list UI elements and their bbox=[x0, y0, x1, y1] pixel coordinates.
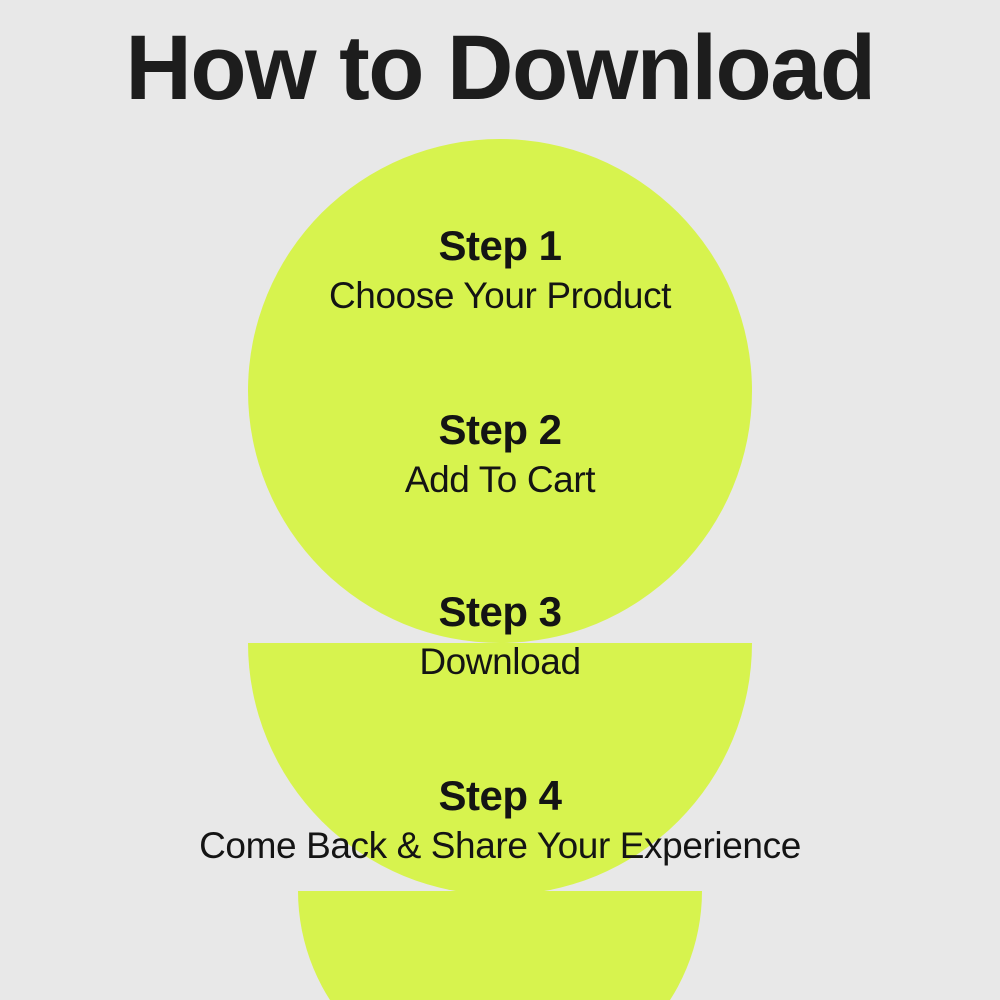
infographic-canvas: How to Download Step 1 Choose Your Produ… bbox=[0, 0, 1000, 1000]
step-caption-4: Come Back & Share Your Experience bbox=[0, 824, 1000, 868]
step-caption-3: Download bbox=[0, 640, 1000, 684]
step-heading-2: Step 2 bbox=[0, 406, 1000, 453]
step-heading-4: Step 4 bbox=[0, 772, 1000, 819]
half-circle-step-four-shape bbox=[298, 891, 702, 1000]
step-heading-3: Step 3 bbox=[0, 588, 1000, 635]
step-heading-1: Step 1 bbox=[0, 222, 1000, 269]
step-block-3: Step 3 Download bbox=[0, 588, 1000, 684]
step-block-1: Step 1 Choose Your Product bbox=[0, 222, 1000, 318]
step-block-2: Step 2 Add To Cart bbox=[0, 406, 1000, 502]
step-caption-1: Choose Your Product bbox=[0, 274, 1000, 318]
step-caption-2: Add To Cart bbox=[0, 458, 1000, 502]
step-block-4: Step 4 Come Back & Share Your Experience bbox=[0, 772, 1000, 868]
circle-step-one-two-shape bbox=[248, 139, 752, 643]
page-title: How to Download bbox=[0, 20, 1000, 117]
